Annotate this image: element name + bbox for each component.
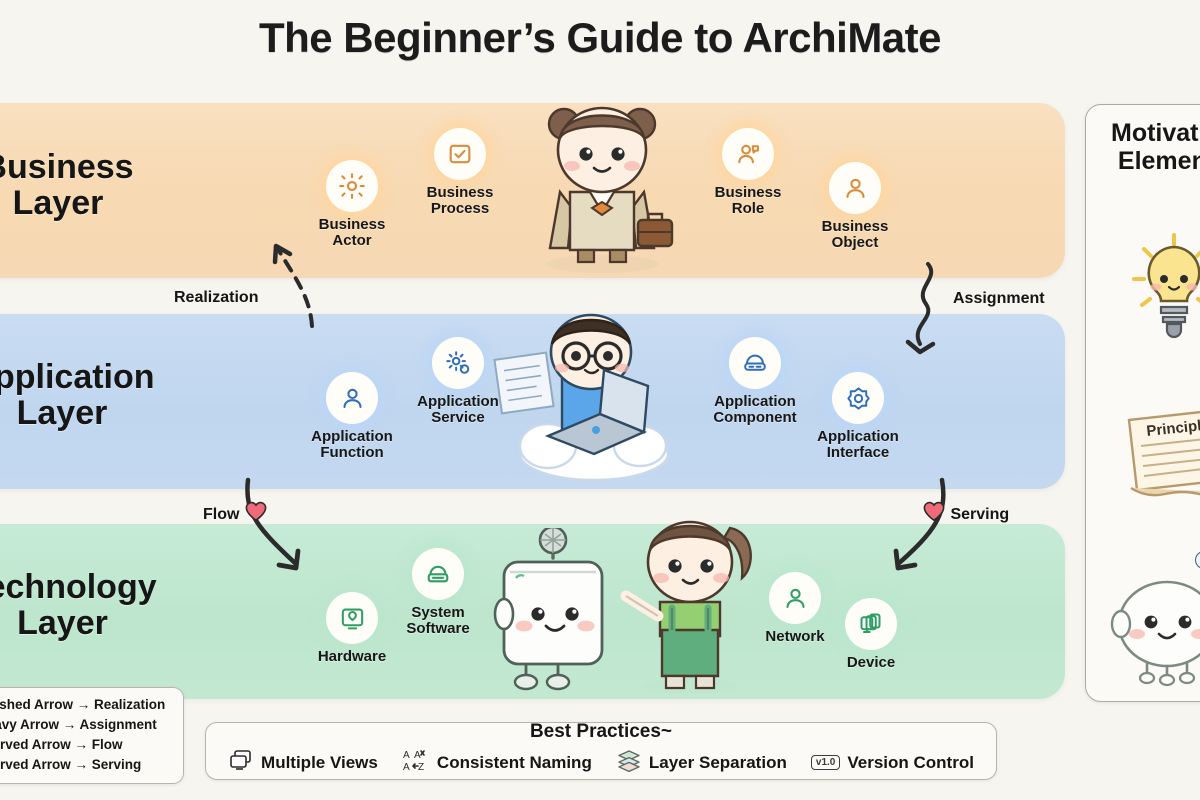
sort-az-icon: A A A Z: [402, 747, 430, 778]
best-practices-title: Best Practices~: [206, 721, 996, 743]
heart-icon: [922, 500, 946, 527]
element-business-object[interactable]: Business Object: [795, 162, 915, 251]
element-label-line2: Process: [431, 200, 489, 217]
page-title: The Beginner’s Guide to ArchiMate: [0, 14, 1200, 62]
technology-robot: [488, 528, 618, 698]
element-label: Business Role: [688, 185, 808, 217]
assignment-arrow: [880, 260, 955, 378]
element-label: Application Function: [292, 429, 412, 461]
best-practice-label: Multiple Views: [261, 753, 378, 773]
interface-icon: [832, 372, 884, 424]
element-label-line2: Function: [320, 444, 383, 461]
layer-title-technology-line1: Technology: [0, 568, 157, 606]
best-practices-items: Multiple Views A A A Z Consistent Naming: [206, 747, 996, 778]
application-character: [490, 312, 690, 492]
best-practice-label: Version Control: [847, 753, 974, 773]
layer-title-technology: Technology Layer: [0, 570, 185, 641]
element-label: Business Process: [400, 185, 520, 217]
best-practice-consistent-naming[interactable]: A A A Z Consistent Naming: [402, 747, 592, 778]
element-label-line2: Component: [713, 409, 796, 426]
best-practice-layer-separation[interactable]: Layer Separation: [616, 748, 787, 777]
layer-title-application-line2: Layer: [17, 394, 108, 432]
serving-arrow: [862, 470, 972, 600]
best-practices-panel: Best Practices~ Multiple Views A A: [205, 722, 997, 780]
element-application-function[interactable]: Application Function: [292, 372, 412, 461]
element-label-line1: Business: [822, 218, 889, 235]
monitor-icon: [326, 592, 378, 644]
legend-line-flow: Curved Arrow → Flow: [0, 735, 174, 755]
checkbox-icon: [434, 128, 486, 180]
element-application-component[interactable]: Application Component: [695, 337, 815, 426]
device-stack-icon: [845, 598, 897, 650]
layer-title-business: Business Layer: [0, 150, 168, 221]
legend-line-realization: Dashed Arrow → Realization: [0, 695, 174, 715]
relation-label-serving: Serving: [922, 500, 1009, 527]
motivation-title-line1: Motivation: [1111, 119, 1200, 147]
layer-title-business-line2: Layer: [13, 184, 104, 222]
element-label-line2: Object: [832, 234, 879, 251]
element-label-line1: Business: [715, 184, 782, 201]
layer-title-business-line1: Business: [0, 148, 134, 186]
best-practice-label: Layer Separation: [649, 753, 787, 773]
flow-arrow: [218, 470, 328, 600]
element-label-line1: Application: [417, 393, 499, 410]
element-label-line2: Software: [406, 620, 469, 637]
element-label: Application Interface: [798, 429, 918, 461]
person-icon: [829, 162, 881, 214]
person-icon: [326, 372, 378, 424]
element-label: Hardware: [292, 649, 412, 665]
element-label-line2: Service: [431, 409, 484, 426]
relation-label-serving-text: Serving: [950, 506, 1009, 523]
element-label-line1: Application: [311, 428, 393, 445]
motivation-title: Motivation Elements: [1086, 119, 1200, 175]
technology-character: [620, 504, 770, 694]
layer-title-application-line1: Application: [0, 358, 155, 396]
legend-line-serving: Curved Arrow → Serving: [0, 755, 174, 775]
layer-title-technology-line2: Layer: [17, 604, 108, 642]
relation-label-flow: Flow: [203, 500, 268, 527]
infographic-root: The Beginner’s Guide to ArchiMate Busine…: [0, 0, 1200, 800]
svg-text:A: A: [414, 750, 421, 761]
layer-title-application: Application Layer: [0, 360, 182, 431]
element-label-line1: Application: [817, 428, 899, 445]
element-label: Device: [811, 655, 931, 671]
gear-cog-icon: [432, 337, 484, 389]
realization-arrow: [250, 200, 370, 330]
lightbulb-icon: [1126, 229, 1200, 339]
svg-text:A: A: [403, 762, 410, 773]
component-icon: [729, 337, 781, 389]
blob-character-icon: [1099, 566, 1200, 703]
layers-icon: [616, 748, 642, 777]
best-practice-multiple-views[interactable]: Multiple Views: [228, 748, 378, 777]
motivation-item-requirement[interactable]: Re: [1086, 531, 1200, 696]
relation-label-flow-text: Flow: [203, 506, 239, 523]
relation-label-realization: Realization: [174, 289, 258, 307]
element-label-line1: Business: [427, 184, 494, 201]
motivation-items: Principle Re: [1086, 201, 1200, 702]
element-label: System Software: [378, 605, 498, 637]
element-label: Business Object: [795, 219, 915, 251]
element-label-line2: Interface: [827, 444, 890, 461]
motivation-item-principle[interactable]: Principle: [1086, 366, 1200, 531]
element-label: Application Component: [695, 394, 815, 426]
element-label-line1: Application: [714, 393, 796, 410]
motivation-item-lightbulb[interactable]: [1086, 201, 1200, 366]
element-business-role[interactable]: Business Role: [688, 128, 808, 217]
scroll-icon: Principle: [1111, 394, 1200, 504]
business-character: [512, 96, 692, 276]
windows-stack-icon: [228, 748, 254, 777]
element-system-software[interactable]: System Software: [378, 548, 498, 637]
element-label-line1: Hardware: [318, 648, 386, 665]
element-application-interface[interactable]: Application Interface: [798, 372, 918, 461]
element-label-line1: Device: [847, 654, 895, 671]
svg-text:A: A: [403, 750, 410, 761]
person-role-icon: [722, 128, 774, 180]
version-badge-icon: v1.0: [811, 755, 840, 770]
motivation-title-line2: Elements: [1118, 147, 1200, 175]
relationship-legend: Dashed Arrow → Realization Wavy Arrow → …: [0, 687, 184, 784]
legend-line-assignment: Wavy Arrow → Assignment: [0, 715, 174, 735]
element-business-process[interactable]: Business Process: [400, 128, 520, 217]
heart-icon: [244, 500, 268, 527]
element-label-line1: System: [411, 604, 464, 621]
motivation-elements-panel: Motivation Elements: [1085, 104, 1200, 702]
element-device[interactable]: Device: [811, 598, 931, 671]
best-practice-version-control[interactable]: v1.0 Version Control: [811, 753, 974, 773]
relation-label-assignment: Assignment: [953, 290, 1045, 308]
best-practice-label: Consistent Naming: [437, 753, 592, 773]
element-label-line2: Role: [732, 200, 765, 217]
system-software-icon: [412, 548, 464, 600]
svg-text:Z: Z: [418, 762, 424, 773]
